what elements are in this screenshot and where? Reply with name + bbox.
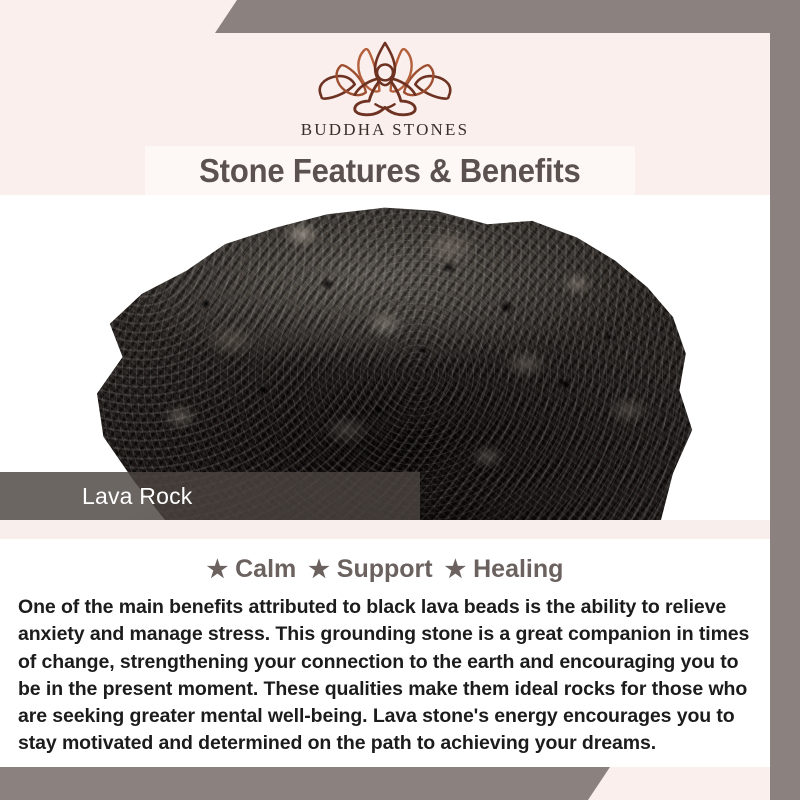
keyword-label: Calm [235,555,296,584]
star-icon: ★ [207,558,229,582]
lotus-meditation-figure-icon [305,39,465,117]
keyword-label: Support [337,555,433,584]
keyword-calm: ★ Calm [207,555,297,584]
frame-bar-right [770,33,800,800]
poster-root: BUDDHA STONES Stone Features & Benefits … [0,0,800,800]
frame-bar-top [215,0,800,33]
poster-card: BUDDHA STONES Stone Features & Benefits … [0,33,770,767]
brand-wordmark: BUDDHA STONES [301,120,470,140]
page-title: Stone Features & Benefits [199,152,580,190]
keyword-label: Healing [473,555,563,584]
frame-bar-bottom [0,767,610,800]
keyword-healing: ★ Healing [445,555,564,584]
separator-strip [0,520,770,539]
title-banner: Stone Features & Benefits [145,146,635,195]
star-icon: ★ [445,558,467,582]
brand-logo-block: BUDDHA STONES [0,33,770,143]
keyword-support: ★ Support [308,555,432,584]
description-panel: ★ Calm ★ Support ★ Healing One of the ma… [0,539,770,767]
description-text: One of the main benefits attributed to b… [18,594,752,758]
photo-caption-bar: Lava Rock [0,472,420,520]
photo-caption-label: Lava Rock [0,483,192,510]
keyword-list: ★ Calm ★ Support ★ Healing [18,555,752,584]
star-icon: ★ [308,558,330,582]
